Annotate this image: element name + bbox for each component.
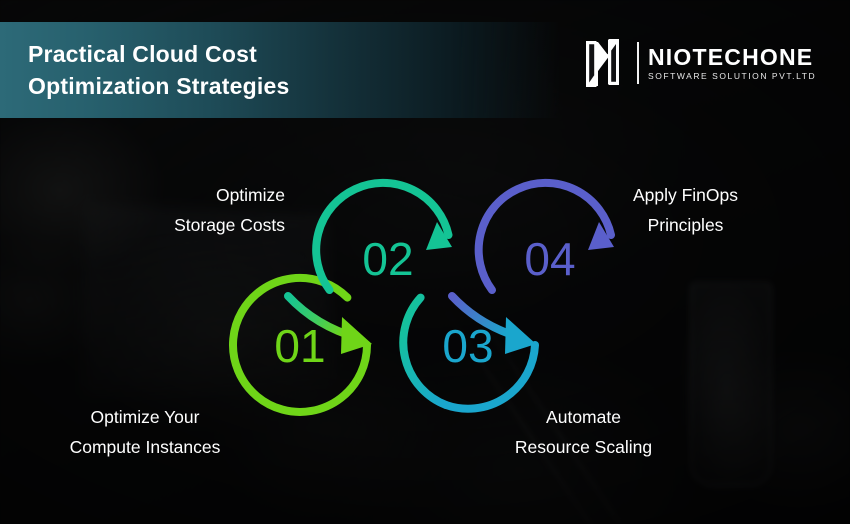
step-label-02-line-1: Optimize (0, 180, 285, 210)
step-label-04-line-2: Principles (578, 210, 793, 240)
step-label-01-line-1: Optimize Your (0, 402, 290, 432)
step-label-03-line-2: Resource Scaling (470, 432, 697, 462)
step-03-arc-left (403, 298, 446, 405)
step-label-03: Automate Resource Scaling (470, 402, 697, 462)
step-number-04: 04 (524, 233, 575, 285)
step-label-04: Apply FinOps Principles (578, 180, 793, 240)
step-number-03: 03 (442, 320, 493, 372)
infographic-canvas: Practical Cloud Cost Optimization Strate… (0, 0, 850, 524)
step-label-01-line-2: Compute Instances (0, 432, 290, 462)
step-label-04-line-1: Apply FinOps (578, 180, 793, 210)
step-label-02: Optimize Storage Costs (0, 180, 285, 240)
step-label-01: Optimize Your Compute Instances (0, 402, 290, 462)
step-label-02-line-2: Storage Costs (0, 210, 285, 240)
step-label-03-line-1: Automate (470, 402, 697, 432)
step-number-01: 01 (274, 320, 325, 372)
step-number-02: 02 (362, 233, 413, 285)
